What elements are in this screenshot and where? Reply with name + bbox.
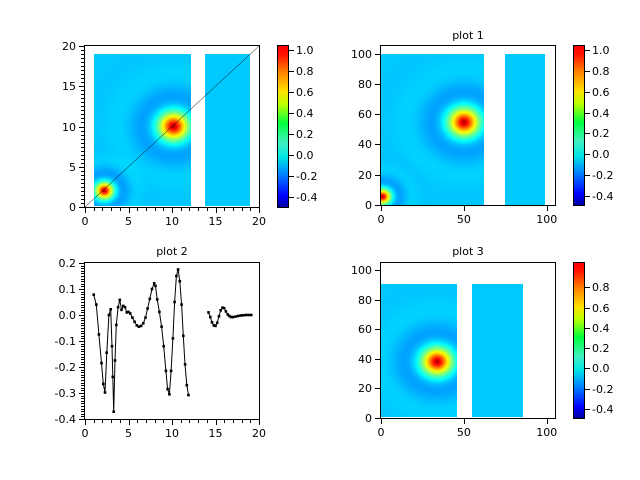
y-tick-label: 80 xyxy=(330,295,372,306)
y-minor-tick xyxy=(81,299,84,300)
y-minor-tick xyxy=(81,349,84,350)
y-minor-tick xyxy=(81,336,84,337)
plot-area xyxy=(380,45,556,206)
y-tick-label: 0.0 xyxy=(34,310,76,321)
y-tick-label: 60 xyxy=(330,109,372,120)
y-minor-tick xyxy=(81,403,84,404)
y-minor-tick xyxy=(81,131,84,132)
y-tick xyxy=(375,175,380,176)
y-minor-tick xyxy=(81,110,84,111)
colorbar-tick-label: 0.4 xyxy=(296,108,314,119)
colorbar-tick xyxy=(585,287,590,288)
colorbar-tick xyxy=(585,50,590,51)
y-minor-tick xyxy=(81,268,84,269)
y-tick-label: -0.1 xyxy=(34,336,76,347)
y-minor-tick xyxy=(81,70,84,71)
y-tick xyxy=(375,270,380,271)
series-marker xyxy=(216,322,219,325)
x-tick-label: 100 xyxy=(527,427,567,438)
colorbar-tick-label: 0.0 xyxy=(592,149,610,160)
x-minor-tick xyxy=(189,420,190,423)
x-tick-label: 50 xyxy=(444,427,484,438)
colorbar-tick xyxy=(585,368,590,369)
y-minor-tick xyxy=(81,263,84,264)
y-minor-tick xyxy=(81,98,84,99)
colorbar-tick-label: -0.4 xyxy=(592,404,613,415)
colorbar-tick xyxy=(585,71,590,72)
y-minor-tick xyxy=(81,419,84,420)
y-minor-tick xyxy=(81,62,84,63)
y-minor-tick xyxy=(81,139,84,140)
y-minor-tick xyxy=(81,325,84,326)
series-marker xyxy=(173,301,176,304)
y-tick-label: 60 xyxy=(330,324,372,335)
y-minor-tick xyxy=(81,323,84,324)
colorbar-tick xyxy=(585,196,590,197)
colorbar-tick-label: 0.0 xyxy=(592,363,610,374)
series-marker xyxy=(129,312,132,315)
y-minor-tick xyxy=(81,302,84,303)
y-minor-tick xyxy=(81,58,84,59)
series-marker xyxy=(119,299,122,302)
x-minor-tick xyxy=(172,208,173,211)
y-minor-tick xyxy=(81,318,84,319)
y-minor-tick xyxy=(81,281,84,282)
colorbar-tick xyxy=(289,92,294,93)
x-minor-tick xyxy=(163,420,164,423)
series-marker xyxy=(175,275,178,278)
x-minor-tick xyxy=(85,208,86,211)
x-minor-tick xyxy=(172,420,173,423)
panel-title: plot 2 xyxy=(84,246,260,258)
y-minor-tick xyxy=(81,279,84,280)
y-minor-tick xyxy=(81,346,84,347)
y-minor-tick xyxy=(81,289,84,290)
series-marker xyxy=(162,345,165,348)
y-minor-tick xyxy=(81,396,84,397)
y-minor-tick xyxy=(81,122,84,123)
series-marker xyxy=(223,307,226,310)
series-marker xyxy=(146,307,149,310)
colorbar-tick-label: 0.2 xyxy=(296,129,314,140)
series-marker xyxy=(250,314,253,317)
x-minor-tick xyxy=(111,208,112,211)
y-minor-tick xyxy=(81,286,84,287)
series-marker xyxy=(180,303,183,306)
y-minor-tick xyxy=(81,414,84,415)
y-tick-label: 0 xyxy=(330,413,372,424)
series-marker xyxy=(187,394,190,397)
colorbar-tick-label: -0.2 xyxy=(592,170,613,181)
y-minor-tick xyxy=(81,398,84,399)
series-marker xyxy=(225,310,228,313)
series-marker xyxy=(211,321,214,324)
y-minor-tick xyxy=(81,90,84,91)
colorbar-tick xyxy=(585,409,590,410)
x-tick-label: 20 xyxy=(239,216,279,227)
y-tick-label: 0 xyxy=(34,202,76,213)
y-minor-tick xyxy=(81,143,84,144)
panel-title: plot 1 xyxy=(380,30,556,42)
x-minor-tick xyxy=(233,208,234,211)
x-tick-label: 0 xyxy=(361,214,401,225)
series-marker xyxy=(114,359,117,362)
series-marker xyxy=(105,351,108,354)
series-marker xyxy=(166,388,169,391)
x-minor-tick xyxy=(250,208,251,211)
colorbar-tick-label: 0.8 xyxy=(296,66,314,77)
series-marker xyxy=(182,335,185,338)
colorbar-tick-label: 0.6 xyxy=(296,87,314,98)
series-marker xyxy=(115,324,118,327)
y-minor-tick xyxy=(81,147,84,148)
colorbar-tick-label: 0.2 xyxy=(592,343,610,354)
y-minor-tick xyxy=(81,74,84,75)
x-tick-label: 20 xyxy=(239,428,279,439)
y-tick-label: -0.4 xyxy=(34,414,76,425)
x-tick xyxy=(464,419,465,424)
y-minor-tick xyxy=(81,305,84,306)
y-tick-label: 20 xyxy=(330,383,372,394)
series-marker xyxy=(100,362,103,365)
colorbar-tick xyxy=(585,154,590,155)
diagonal-line xyxy=(85,46,259,207)
y-minor-tick xyxy=(81,266,84,267)
y-minor-tick xyxy=(81,354,84,355)
heatmap-block xyxy=(381,284,457,417)
x-minor-tick xyxy=(120,420,121,423)
panel-title: plot 3 xyxy=(380,246,556,258)
x-minor-tick xyxy=(198,208,199,211)
y-tick-label: 0.1 xyxy=(34,284,76,295)
plot-area xyxy=(380,262,556,419)
series-marker xyxy=(172,337,175,340)
y-tick xyxy=(375,388,380,389)
heatmap-block xyxy=(472,284,523,417)
x-minor-tick xyxy=(198,420,199,423)
series-marker xyxy=(170,370,173,373)
y-minor-tick xyxy=(81,367,84,368)
colorbar-tick-label: 0.8 xyxy=(592,66,610,77)
y-minor-tick xyxy=(81,106,84,107)
series-marker xyxy=(160,325,163,328)
series-marker xyxy=(104,391,107,394)
y-tick-label: 40 xyxy=(330,354,372,365)
series-marker xyxy=(144,316,147,319)
x-minor-tick xyxy=(163,208,164,211)
x-minor-tick xyxy=(242,420,243,423)
colorbar-tick xyxy=(585,348,590,349)
y-minor-tick xyxy=(81,357,84,358)
series-marker xyxy=(156,298,159,301)
y-minor-tick xyxy=(81,191,84,192)
y-tick xyxy=(375,205,380,206)
x-minor-tick xyxy=(146,208,147,211)
y-minor-tick xyxy=(81,66,84,67)
y-tick-label: 40 xyxy=(330,139,372,150)
x-minor-tick xyxy=(181,420,182,423)
series-marker xyxy=(234,315,237,318)
colorbar xyxy=(573,262,585,419)
series-marker xyxy=(111,345,114,348)
x-minor-tick xyxy=(216,420,217,423)
x-minor-tick xyxy=(189,208,190,211)
y-minor-tick xyxy=(81,86,84,87)
colorbar-tick xyxy=(585,389,590,390)
y-minor-tick xyxy=(81,102,84,103)
colorbar-tick-label: -0.2 xyxy=(296,171,317,182)
y-minor-tick xyxy=(81,362,84,363)
colorbar-tick xyxy=(585,175,590,176)
series-marker xyxy=(209,316,212,319)
y-minor-tick xyxy=(81,199,84,200)
y-tick xyxy=(375,114,380,115)
y-minor-tick xyxy=(81,364,84,365)
colorbar-tick xyxy=(585,113,590,114)
x-minor-tick xyxy=(94,208,95,211)
colorbar-tick xyxy=(289,197,294,198)
x-tick xyxy=(547,206,548,211)
series-marker xyxy=(242,314,245,317)
series-marker xyxy=(177,268,180,271)
colorbar-tick xyxy=(289,155,294,156)
y-minor-tick xyxy=(81,409,84,410)
y-minor-tick xyxy=(81,385,84,386)
series-marker xyxy=(120,309,123,312)
y-minor-tick xyxy=(81,359,84,360)
series-marker xyxy=(98,333,101,336)
y-minor-tick xyxy=(81,375,84,376)
y-minor-tick xyxy=(81,159,84,160)
colorbar xyxy=(573,45,585,206)
series-marker xyxy=(219,309,222,312)
series-marker xyxy=(154,285,157,288)
colorbar-tick xyxy=(289,50,294,51)
series-marker xyxy=(214,325,217,328)
y-minor-tick xyxy=(81,135,84,136)
series-marker xyxy=(102,383,105,386)
y-minor-tick xyxy=(81,310,84,311)
y-minor-tick xyxy=(81,393,84,394)
y-minor-tick xyxy=(81,151,84,152)
y-minor-tick xyxy=(81,46,84,47)
y-tick-label: 0.2 xyxy=(34,258,76,269)
plot-area xyxy=(84,45,260,208)
line-series-group xyxy=(85,263,259,419)
y-minor-tick xyxy=(81,179,84,180)
series-marker xyxy=(245,314,248,317)
x-minor-tick xyxy=(224,208,225,211)
y-minor-tick xyxy=(81,183,84,184)
y-minor-tick xyxy=(81,167,84,168)
colorbar-tick xyxy=(289,176,294,177)
series-marker xyxy=(179,280,182,283)
series-line xyxy=(94,270,189,412)
y-tick xyxy=(375,300,380,301)
series-marker xyxy=(151,288,154,291)
y-minor-tick xyxy=(81,312,84,313)
y-minor-tick xyxy=(81,292,84,293)
x-tick-label: 100 xyxy=(527,214,567,225)
series-marker xyxy=(153,282,156,285)
y-tick-label: 20 xyxy=(330,170,372,181)
x-minor-tick xyxy=(129,208,130,211)
colorbar-tick-label: 0.8 xyxy=(592,282,610,293)
series-marker xyxy=(95,303,98,306)
y-minor-tick xyxy=(81,171,84,172)
y-tick xyxy=(375,84,380,85)
y-tick-label: -0.3 xyxy=(34,388,76,399)
x-tick xyxy=(464,206,465,211)
colorbar-tick-label: -0.4 xyxy=(592,191,613,202)
x-minor-tick xyxy=(233,420,234,423)
x-minor-tick xyxy=(181,208,182,211)
heatmap-block xyxy=(505,54,545,205)
y-minor-tick xyxy=(81,271,84,272)
y-minor-tick xyxy=(81,284,84,285)
series-marker xyxy=(207,311,210,314)
y-minor-tick xyxy=(81,118,84,119)
y-tick-label: 0 xyxy=(330,200,372,211)
x-minor-tick xyxy=(111,420,112,423)
x-minor-tick xyxy=(207,208,208,211)
y-tick-label: 10 xyxy=(34,122,76,133)
series-marker xyxy=(142,322,145,325)
x-tick xyxy=(381,206,382,211)
y-minor-tick xyxy=(81,175,84,176)
x-minor-tick xyxy=(94,420,95,423)
x-minor-tick xyxy=(155,208,156,211)
x-tick-label: 0 xyxy=(361,427,401,438)
y-tick xyxy=(375,54,380,55)
y-minor-tick xyxy=(81,338,84,339)
x-minor-tick xyxy=(250,420,251,423)
y-tick xyxy=(375,329,380,330)
colorbar-tick-label: 1.0 xyxy=(296,45,314,56)
x-minor-tick xyxy=(259,208,260,211)
colorbar-tick-label: 0.4 xyxy=(592,108,610,119)
series-marker xyxy=(131,316,134,319)
x-tick-label: 5 xyxy=(109,428,149,439)
y-minor-tick xyxy=(81,320,84,321)
y-tick-label: 20 xyxy=(34,41,76,52)
series-marker xyxy=(168,393,171,396)
y-tick-label: 5 xyxy=(34,162,76,173)
y-minor-tick xyxy=(81,82,84,83)
y-minor-tick xyxy=(81,388,84,389)
y-minor-tick xyxy=(81,416,84,417)
x-minor-tick xyxy=(102,208,103,211)
colorbar-tick xyxy=(585,133,590,134)
y-minor-tick xyxy=(81,127,84,128)
x-tick xyxy=(547,419,548,424)
y-minor-tick xyxy=(81,390,84,391)
y-minor-tick xyxy=(81,114,84,115)
y-tick-label: -0.2 xyxy=(34,362,76,373)
x-tick-label: 0 xyxy=(65,428,105,439)
x-tick-label: 10 xyxy=(152,428,192,439)
colorbar-tick-label: 0.6 xyxy=(592,303,610,314)
y-minor-tick xyxy=(81,273,84,274)
y-tick xyxy=(375,359,380,360)
x-minor-tick xyxy=(102,420,103,423)
x-minor-tick xyxy=(85,420,86,423)
y-minor-tick xyxy=(81,54,84,55)
series-marker xyxy=(133,321,136,324)
x-minor-tick xyxy=(259,420,260,423)
y-minor-tick xyxy=(81,78,84,79)
y-minor-tick xyxy=(81,333,84,334)
x-minor-tick xyxy=(129,420,130,423)
plot-area xyxy=(84,262,260,420)
x-minor-tick xyxy=(207,420,208,423)
y-tick-label: 100 xyxy=(330,49,372,60)
x-minor-tick xyxy=(120,208,121,211)
colorbar-tick-label: 1.0 xyxy=(592,45,610,56)
colorbar-tick xyxy=(585,308,590,309)
x-tick-label: 15 xyxy=(196,216,236,227)
colorbar-tick xyxy=(289,71,294,72)
x-minor-tick xyxy=(146,420,147,423)
colorbar-tick xyxy=(585,92,590,93)
series-marker xyxy=(239,314,242,317)
y-minor-tick xyxy=(81,383,84,384)
y-minor-tick xyxy=(81,351,84,352)
x-minor-tick xyxy=(224,420,225,423)
y-minor-tick xyxy=(81,187,84,188)
colorbar-tick xyxy=(289,134,294,135)
y-tick-label: 15 xyxy=(34,81,76,92)
y-minor-tick xyxy=(81,372,84,373)
y-minor-tick xyxy=(81,341,84,342)
x-tick-label: 10 xyxy=(152,216,192,227)
series-marker xyxy=(112,410,115,413)
y-minor-tick xyxy=(81,315,84,316)
series-marker xyxy=(149,298,152,301)
colorbar-tick-label: 0.2 xyxy=(592,128,610,139)
y-minor-tick xyxy=(81,163,84,164)
colorbar-tick-label: 0.4 xyxy=(592,323,610,334)
y-minor-tick xyxy=(81,331,84,332)
y-minor-tick xyxy=(81,203,84,204)
x-minor-tick xyxy=(137,208,138,211)
x-minor-tick xyxy=(137,420,138,423)
colorbar-tick-label: -0.4 xyxy=(296,192,317,203)
y-minor-tick xyxy=(81,297,84,298)
series-marker xyxy=(247,314,250,317)
y-minor-tick xyxy=(81,380,84,381)
series-marker xyxy=(237,315,240,318)
series-marker xyxy=(184,363,187,366)
y-minor-tick xyxy=(81,401,84,402)
series-marker xyxy=(117,306,120,309)
y-tick xyxy=(375,418,380,419)
colorbar-tick-label: -0.2 xyxy=(592,384,613,395)
y-minor-tick xyxy=(81,377,84,378)
y-minor-tick xyxy=(81,195,84,196)
series-marker xyxy=(140,325,143,328)
series-marker xyxy=(165,370,168,373)
y-minor-tick xyxy=(81,155,84,156)
y-minor-tick xyxy=(81,344,84,345)
x-tick-label: 0 xyxy=(65,216,105,227)
series-marker xyxy=(92,293,95,296)
y-minor-tick xyxy=(81,50,84,51)
colorbar-tick-label: 0.6 xyxy=(592,87,610,98)
colorbar xyxy=(277,45,289,208)
y-minor-tick xyxy=(81,276,84,277)
x-minor-tick xyxy=(242,208,243,211)
